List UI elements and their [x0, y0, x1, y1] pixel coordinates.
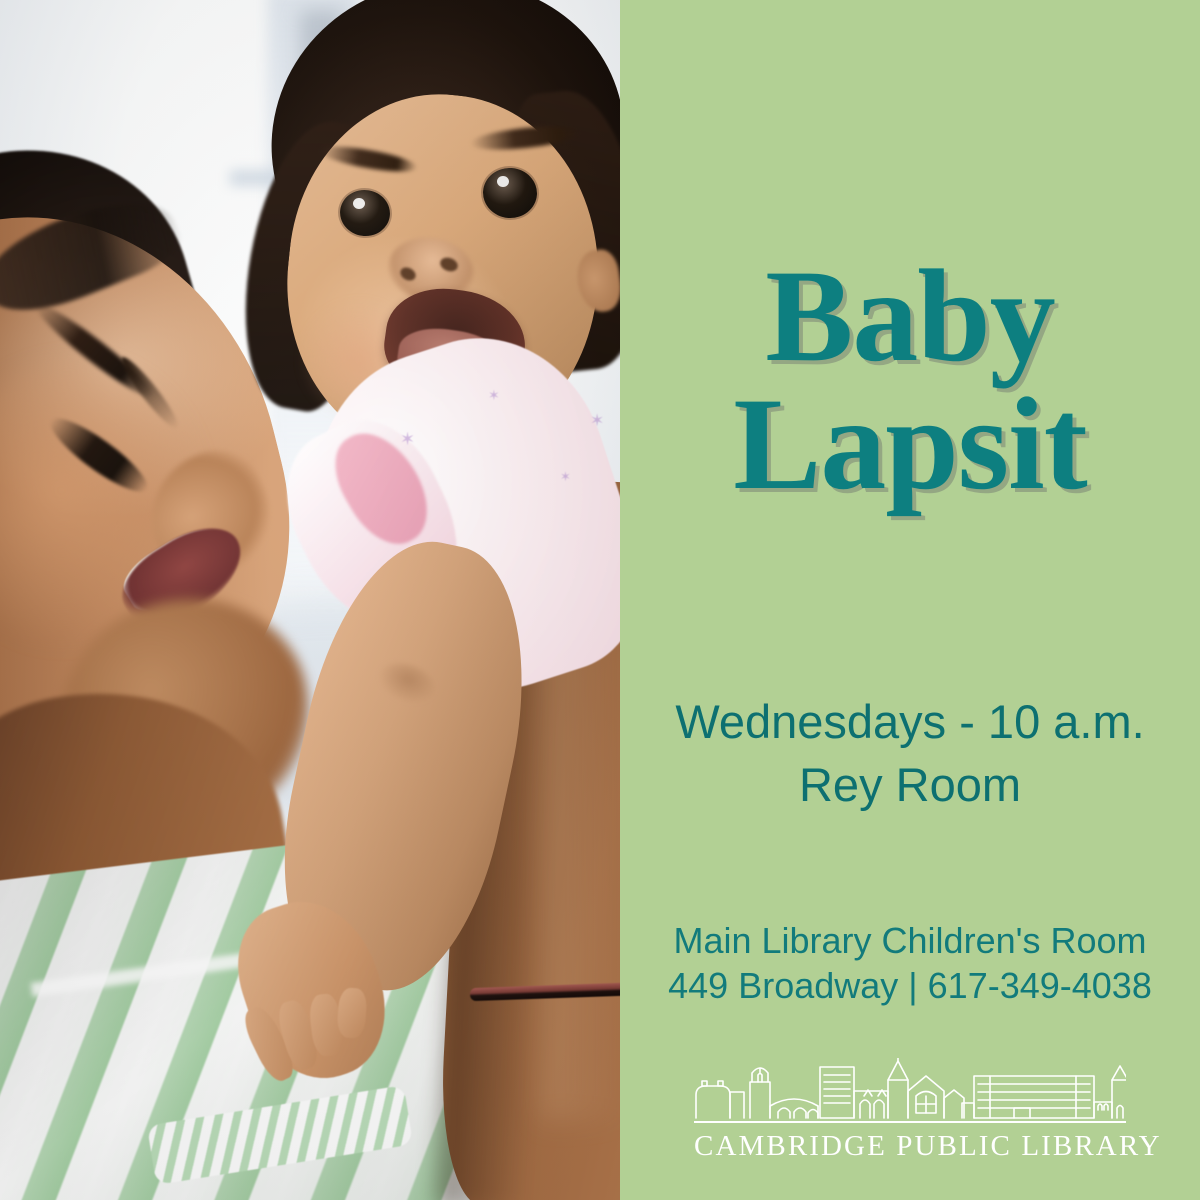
address-street-phone: 449 Broadway | 617-349-4038 — [620, 963, 1200, 1008]
poster: ✶ ✶ ✶ ✶ ✶ ✶ ✶ Baby Lapsit Wednesdays - 1… — [0, 0, 1200, 1200]
onesie-star-print: ✶ — [590, 412, 604, 429]
schedule-room: Rey Room — [620, 753, 1200, 816]
city-skyline-icon — [694, 1058, 1126, 1120]
info-panel: Baby Lapsit Wednesdays - 10 a.m. Rey Roo… — [620, 0, 1200, 1200]
logo-divider — [694, 1121, 1126, 1123]
photo-panel: ✶ ✶ ✶ ✶ ✶ ✶ ✶ — [0, 0, 620, 1200]
event-title: Baby Lapsit — [620, 252, 1200, 508]
address-location: Main Library Children's Room — [620, 918, 1200, 963]
onesie-star-print: ✶ — [560, 470, 571, 483]
event-schedule: Wednesdays - 10 a.m. Rey Room — [620, 690, 1200, 817]
event-address: Main Library Children's Room 449 Broadwa… — [620, 918, 1200, 1009]
logo-wordmark: CAMBRIDGE PUBLIC LIBRARY — [694, 1130, 1126, 1163]
onesie-star-print: ✶ — [400, 430, 415, 448]
event-title-line-1: Baby — [765, 242, 1054, 389]
schedule-day-time: Wednesdays - 10 a.m. — [620, 690, 1200, 753]
baby-eye-glint-left — [353, 198, 365, 209]
event-title-line-2: Lapsit — [620, 380, 1200, 508]
library-logo: CAMBRIDGE PUBLIC LIBRARY — [694, 1058, 1126, 1163]
onesie-star-print: ✶ — [488, 388, 500, 402]
baby-eye-glint-right — [497, 176, 509, 187]
